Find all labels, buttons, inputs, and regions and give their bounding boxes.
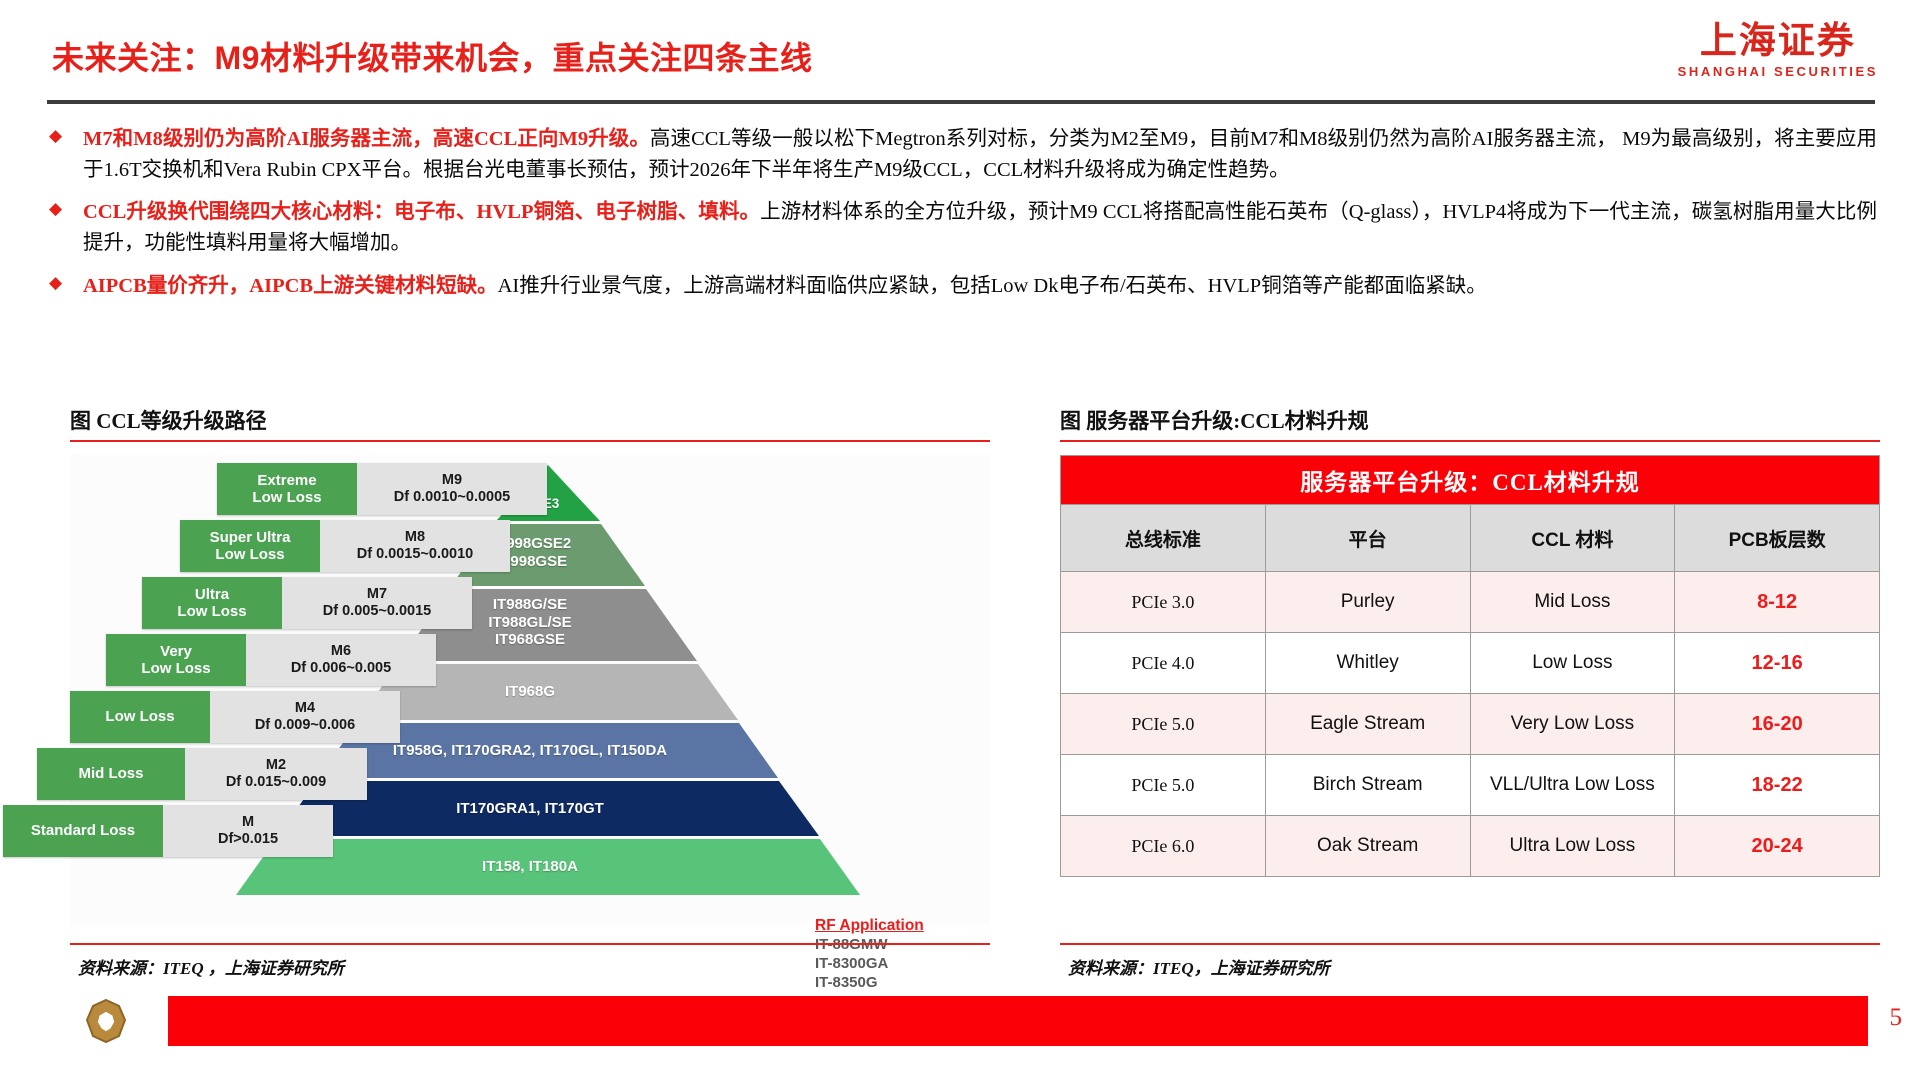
page-number: 5 xyxy=(1890,1004,1903,1032)
table-row: PCIe 4.0 Whitley Low Loss 12-16 xyxy=(1061,633,1880,694)
pyramid-step-m2: Mid Loss M2Df 0.015~0.009 xyxy=(37,748,367,800)
rf-application-item: IT-8350G xyxy=(815,974,924,993)
right-source-divider xyxy=(1060,943,1880,945)
right-panel-title: 图 服务器平台升级:CCL材料升规 xyxy=(1060,405,1880,435)
column-header-platform: 平台 xyxy=(1265,505,1470,572)
cell-pcb-layers: 12-16 xyxy=(1675,633,1880,694)
bullet-text: CCL升级换代围绕四大核心材料：电子布、HVLP铜箔、电子树脂、填料。上游材料体… xyxy=(83,197,1877,259)
pyramid-step-m7-value: M7Df 0.005~0.0015 xyxy=(282,577,472,629)
brand-logo-en: SHANGHAI SECURITIES xyxy=(1678,64,1878,79)
column-header-ccl-material: CCL 材料 xyxy=(1470,505,1675,572)
cell-platform: Oak Stream xyxy=(1265,816,1470,877)
table-caption-head: 服务器平台升级：CCL材料升规 xyxy=(1061,456,1880,505)
bullet-diamond-icon: ◆ xyxy=(47,197,83,222)
cell-ccl-material: Very Low Loss xyxy=(1470,694,1675,755)
bullet-body: AI推升行业景气度，上游高端材料面临供应紧缺，包括Low Dk电子布/石英布、H… xyxy=(498,275,1487,297)
cell-ccl-material: VLL/Ultra Low Loss xyxy=(1470,755,1675,816)
pyramid-step-m9-category: ExtremeLow Loss xyxy=(217,463,357,515)
cell-ccl-material: Mid Loss xyxy=(1470,572,1675,633)
cell-pcb-layers: 8-12 xyxy=(1675,572,1880,633)
pyramid-step-m8-category: Super UltraLow Loss xyxy=(180,520,320,572)
pyramid-step-m6-value: M6Df 0.006~0.005 xyxy=(246,634,436,686)
pyramid-step-m4-value: M4Df 0.009~0.006 xyxy=(210,691,400,743)
bullet-text: AIPCB量价齐升，AIPCB上游关键材料短缺。AI推升行业景气度，上游高端材料… xyxy=(83,271,1877,302)
cell-pcb-layers: 20-24 xyxy=(1675,816,1880,877)
pyramid-step-m4: Low Loss M4Df 0.009~0.006 xyxy=(70,691,400,743)
pyramid-step-m8-value: M8Df 0.0015~0.0010 xyxy=(320,520,510,572)
cell-pcb-layers: 18-22 xyxy=(1675,755,1880,816)
rf-application-item: IT-8300GA xyxy=(815,955,924,974)
cell-pcb-layers: 16-20 xyxy=(1675,694,1880,755)
left-source-note: 资料来源：ITEQ ，上海证券研究所 xyxy=(78,948,344,979)
pyramid-band-7-label: IT158, IT180A xyxy=(70,858,990,876)
title-divider xyxy=(47,100,1875,104)
cell-bus-standard: PCIe 3.0 xyxy=(1061,572,1266,633)
cell-bus-standard: PCIe 6.0 xyxy=(1061,816,1266,877)
footer-bar xyxy=(168,996,1868,1046)
left-source-divider xyxy=(70,943,990,945)
cell-bus-standard: PCIe 4.0 xyxy=(1061,633,1266,694)
brand-logo: 上海证券 SHANGHAI SECURITIES xyxy=(1678,22,1878,79)
table-row: PCIe 5.0 Eagle Stream Very Low Loss 16-2… xyxy=(1061,694,1880,755)
right-panel-divider xyxy=(1060,440,1880,442)
bullet-lead: M7和M8级别仍为高阶AI服务器主流，高速CCL正向M9升级。 xyxy=(83,128,650,150)
brand-logo-cn: 上海证券 xyxy=(1678,22,1878,61)
pyramid-step-m2-category: Mid Loss xyxy=(37,748,185,800)
pyramid-step-m8: Super UltraLow Loss M8Df 0.0015~0.0010 xyxy=(180,520,510,572)
pyramid-step-m7: UltraLow Loss M7Df 0.005~0.0015 xyxy=(142,577,472,629)
bullet-text: M7和M8级别仍为高阶AI服务器主流，高速CCL正向M9升级。高速CCL等级一般… xyxy=(83,124,1877,186)
cell-bus-standard: PCIe 5.0 xyxy=(1061,755,1266,816)
pyramid-step-m2-value: M2Df 0.015~0.009 xyxy=(185,748,367,800)
left-panel-divider xyxy=(70,440,990,442)
rf-application-title: RF Application xyxy=(815,917,924,935)
bullet-lead: CCL升级换代围绕四大核心材料：电子布、HVLP铜箔、电子树脂、填料。 xyxy=(83,201,760,223)
left-panel-header: 图 CCL等级升级路径 xyxy=(70,405,990,442)
pyramid-step-m9-value: M9Df 0.0010~0.0005 xyxy=(357,463,547,515)
cell-platform: Eagle Stream xyxy=(1265,694,1470,755)
cell-bus-standard: PCIe 5.0 xyxy=(1061,694,1266,755)
pyramid-step-m9: ExtremeLow Loss M9Df 0.0010~0.0005 xyxy=(217,463,547,515)
bullet-item: ◆ CCL升级换代围绕四大核心材料：电子布、HVLP铜箔、电子树脂、填料。上游材… xyxy=(47,197,1877,259)
page-title: 未来关注：M9材料升级带来机会，重点关注四条主线 xyxy=(52,33,812,79)
column-header-pcb-layers: PCB板层数 xyxy=(1675,505,1880,572)
table-row: PCIe 5.0 Birch Stream VLL/Ultra Low Loss… xyxy=(1061,755,1880,816)
cell-ccl-material: Ultra Low Loss xyxy=(1470,816,1675,877)
bullet-diamond-icon: ◆ xyxy=(47,124,83,149)
ccl-pyramid-figure: IT-999GSE3 IT-998GSE2IT-998GSE IT988G/SE… xyxy=(70,455,990,925)
bullet-item: ◆ AIPCB量价齐升，AIPCB上游关键材料短缺。AI推升行业景气度，上游高端… xyxy=(47,271,1877,302)
pyramid-step-m6-category: VeryLow Loss xyxy=(106,634,246,686)
table-column-head: 总线标准 平台 CCL 材料 PCB板层数 xyxy=(1061,505,1880,572)
cell-ccl-material: Low Loss xyxy=(1470,633,1675,694)
rf-application-item: IT-88GMW xyxy=(815,936,924,955)
pyramid-step-m7-category: UltraLow Loss xyxy=(142,577,282,629)
table-body: PCIe 3.0 Purley Mid Loss 8-12 PCIe 4.0 W… xyxy=(1061,572,1880,877)
company-emblem-icon xyxy=(75,996,137,1046)
right-source-note: 资料来源：ITEQ，上海证券研究所 xyxy=(1068,948,1330,979)
right-panel-header: 图 服务器平台升级:CCL材料升规 xyxy=(1060,405,1880,442)
bullet-diamond-icon: ◆ xyxy=(47,271,83,296)
left-panel-title: 图 CCL等级升级路径 xyxy=(70,405,990,435)
pyramid-step-m-value: MDf>0.015 xyxy=(163,805,333,857)
bullet-lead: AIPCB量价齐升，AIPCB上游关键材料短缺。 xyxy=(83,275,498,297)
table-caption: 服务器平台升级：CCL材料升规 xyxy=(1061,456,1880,505)
cell-platform: Whitley xyxy=(1265,633,1470,694)
bullet-list: ◆ M7和M8级别仍为高阶AI服务器主流，高速CCL正向M9升级。高速CCL等级… xyxy=(47,124,1877,313)
cell-platform: Purley xyxy=(1265,572,1470,633)
pyramid-step-m: Standard Loss MDf>0.015 xyxy=(3,805,333,857)
column-header-bus-standard: 总线标准 xyxy=(1061,505,1266,572)
pyramid-step-m6: VeryLow Loss M6Df 0.006~0.005 xyxy=(106,634,436,686)
table-row: PCIe 3.0 Purley Mid Loss 8-12 xyxy=(1061,572,1880,633)
cell-platform: Birch Stream xyxy=(1265,755,1470,816)
pyramid-step-m4-category: Low Loss xyxy=(70,691,210,743)
table-row: PCIe 6.0 Oak Stream Ultra Low Loss 20-24 xyxy=(1061,816,1880,877)
pyramid-step-m-category: Standard Loss xyxy=(3,805,163,857)
bullet-item: ◆ M7和M8级别仍为高阶AI服务器主流，高速CCL正向M9升级。高速CCL等级… xyxy=(47,124,1877,186)
slide-header: 未来关注：M9材料升级带来机会，重点关注四条主线 上海证券 SHANGHAI S… xyxy=(0,0,1920,106)
ccl-material-table: 服务器平台升级：CCL材料升规 总线标准 平台 CCL 材料 PCB板层数 PC… xyxy=(1060,455,1880,877)
